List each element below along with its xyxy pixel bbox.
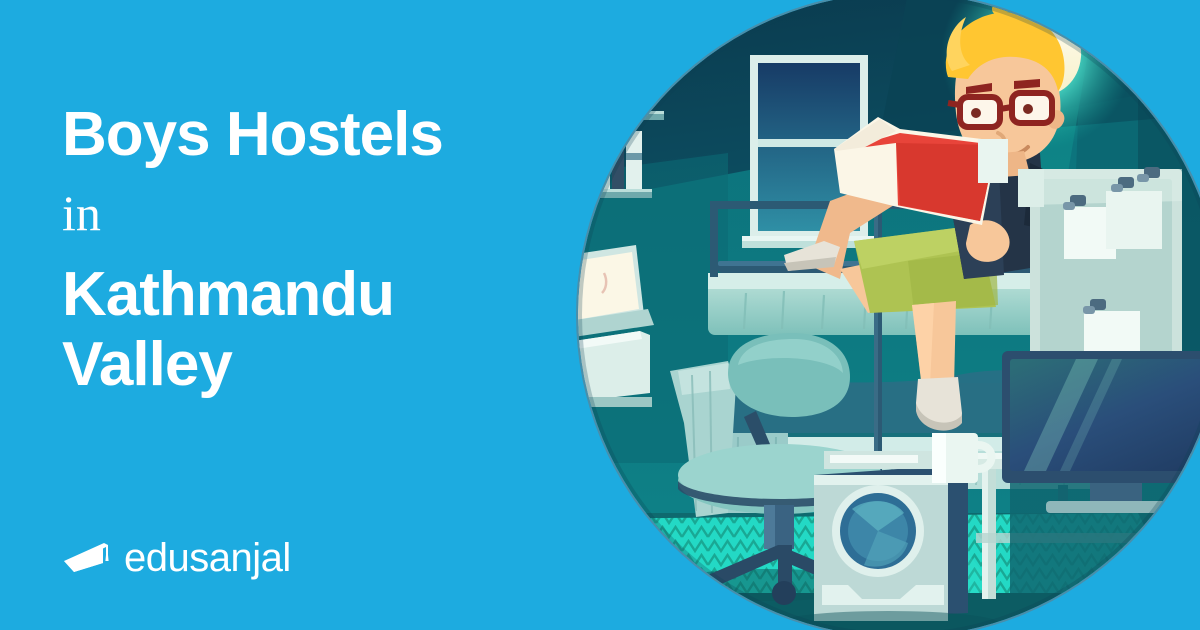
hostel-dorm-room-illustration <box>578 0 1200 630</box>
headline-line-1: Boys Hostels <box>62 104 602 166</box>
corkboard <box>1030 167 1182 381</box>
headline-line-4: Valley <box>62 334 602 396</box>
graduation-cap-icon <box>62 539 118 577</box>
headline-line-2: in <box>62 188 602 238</box>
brand-logo[interactable]: edusanjal <box>62 538 291 578</box>
headline-line-3: Kathmandu <box>62 264 602 326</box>
banner-root: Boys Hostels in Kathmandu Valley edusanj… <box>0 0 1200 630</box>
brand-wordmark: edusanjal <box>124 538 291 578</box>
eyeglasses <box>948 93 1052 127</box>
page-title: Boys Hostels in Kathmandu Valley <box>62 104 602 396</box>
